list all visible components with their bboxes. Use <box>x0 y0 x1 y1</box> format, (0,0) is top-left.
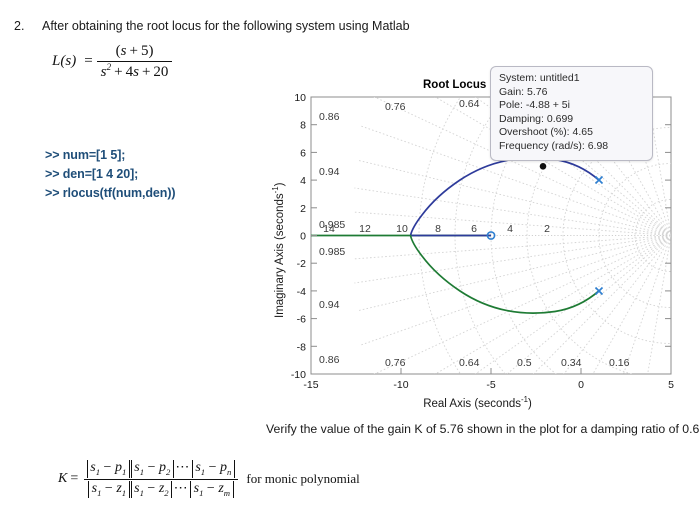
svg-text:6: 6 <box>471 223 477 235</box>
svg-text:0.64: 0.64 <box>459 357 480 369</box>
svg-text:0.5: 0.5 <box>517 357 532 369</box>
transfer-function-equation: L(s) = (s + 5) s2 + 4s + 20 <box>52 43 172 81</box>
y-tick-labels: 10 8 6 4 2 0 -2 -4 -6 -8 -10 <box>291 92 306 381</box>
svg-text:0.985: 0.985 <box>319 246 345 258</box>
tooltip-gain: Gain: 5.76 <box>499 86 644 100</box>
equals-sign: = <box>84 53 92 70</box>
svg-text:-4: -4 <box>297 286 306 298</box>
x-tick-labels: -15 -10 -5 0 5 <box>303 379 674 391</box>
matlab-line-1: >> num=[1 5]; <box>45 146 175 165</box>
svg-text:-10: -10 <box>393 379 408 391</box>
svg-text:-8: -8 <box>297 341 306 353</box>
denominator: s2 + 4s + 20 <box>97 61 173 81</box>
gain-formula-equals: = <box>70 471 78 487</box>
svg-text:6: 6 <box>300 147 306 159</box>
question-text: After obtaining the root locus for the f… <box>42 19 410 33</box>
tooltip-pole: Pole: -4.88 + 5i <box>499 99 644 113</box>
svg-text:12: 12 <box>359 223 371 235</box>
matlab-line-3: >> rlocus(tf(num,den)) <box>45 184 175 203</box>
tooltip-overshoot: Overshoot (%): 4.65 <box>499 126 644 140</box>
y-axis-label: Imaginary Axis (seconds-1) <box>271 183 286 318</box>
svg-text:0.86: 0.86 <box>319 354 340 366</box>
worksheet-page: 2. After obtaining the root locus for th… <box>0 0 700 516</box>
numerator: (s + 5) <box>112 43 158 61</box>
svg-text:0: 0 <box>578 379 584 391</box>
tooltip-system: System: untitled1 <box>499 72 644 86</box>
gain-formula-lhs: K <box>58 471 67 487</box>
svg-text:4: 4 <box>300 175 306 187</box>
svg-text:0: 0 <box>300 231 306 243</box>
svg-text:10: 10 <box>294 92 306 104</box>
question-number: 2. <box>14 19 24 33</box>
svg-text:4: 4 <box>507 223 513 235</box>
svg-text:0.86: 0.86 <box>319 111 340 123</box>
svg-text:-6: -6 <box>297 314 306 326</box>
svg-text:0.16: 0.16 <box>609 357 630 369</box>
selected-data-point <box>540 163 547 170</box>
svg-text:0.94: 0.94 <box>319 166 340 178</box>
monic-polynomial-note: for monic polynomial <box>246 471 359 487</box>
verify-instruction-text: Verify the value of the gain K of 5.76 s… <box>266 422 700 436</box>
svg-text:-2: -2 <box>297 258 306 270</box>
tooltip-damping: Damping: 0.699 <box>499 113 644 127</box>
gain-formula-equation: K = s1 − p1s1 − p2⋯s1 − pn s1 − z1s1 − z… <box>58 460 360 498</box>
tooltip-frequency: Frequency (rad/s): 6.98 <box>499 140 644 154</box>
gain-formula-numerator: s1 − p1s1 − p2⋯s1 − pn <box>82 460 239 479</box>
gain-formula-denominator: s1 − z1s1 − z2⋯s1 − zm <box>84 479 238 499</box>
svg-text:8: 8 <box>300 120 306 132</box>
matlab-line-2: >> den=[1 4 20]; <box>45 165 175 184</box>
svg-text:5: 5 <box>668 379 674 391</box>
svg-text:0.76: 0.76 <box>385 357 406 369</box>
svg-text:8: 8 <box>435 223 441 235</box>
svg-text:-5: -5 <box>486 379 495 391</box>
svg-text:14: 14 <box>323 223 335 235</box>
svg-text:0.94: 0.94 <box>319 299 340 311</box>
svg-text:0.34: 0.34 <box>561 357 582 369</box>
svg-text:10: 10 <box>396 223 408 235</box>
figure-title: Root Locus <box>423 79 486 91</box>
svg-text:2: 2 <box>544 223 550 235</box>
svg-text:-15: -15 <box>303 379 318 391</box>
data-tip-tooltip[interactable]: System: untitled1 Gain: 5.76 Pole: -4.88… <box>490 66 653 161</box>
svg-text:2: 2 <box>300 203 306 215</box>
root-locus-figure: Root Locus <box>255 70 700 410</box>
matlab-command-block: >> num=[1 5]; >> den=[1 4 20]; >> rlocus… <box>45 146 175 203</box>
svg-text:0.76: 0.76 <box>385 101 406 113</box>
x-axis-label: Real Axis (seconds-1) <box>255 395 700 410</box>
svg-text:0.64: 0.64 <box>459 98 480 110</box>
